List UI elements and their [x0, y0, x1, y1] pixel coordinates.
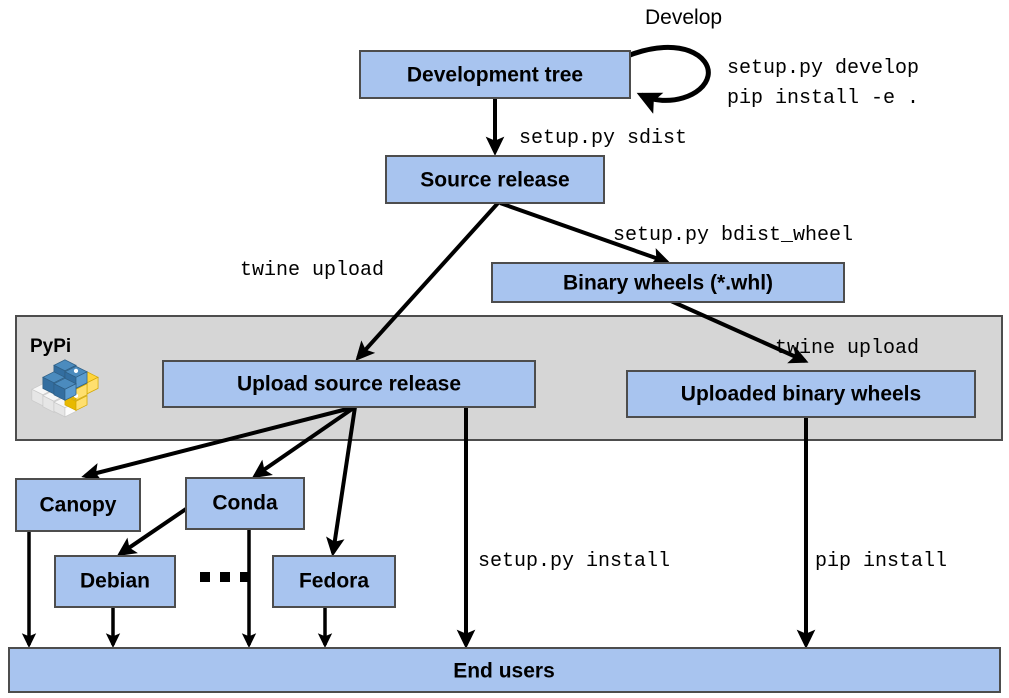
packaging-flow-diagram: PyPi [0, 0, 1009, 698]
label-pip-install-editable: pip install -e . [727, 87, 919, 110]
development-tree-label: Development tree [407, 64, 583, 87]
node-conda[interactable]: Conda [186, 478, 304, 529]
canopy-label: Canopy [39, 494, 116, 517]
label-setup-py-bdist-wheel: setup.py bdist_wheel [613, 224, 853, 247]
node-development-tree[interactable]: Development tree [360, 51, 630, 98]
label-setup-py-sdist: setup.py sdist [519, 127, 687, 150]
label-twine-upload-wheels: twine upload [775, 337, 919, 360]
label-setup-py-develop: setup.py develop [727, 57, 919, 80]
label-twine-upload-source: twine upload [240, 259, 384, 282]
debian-label: Debian [80, 570, 150, 593]
ellipsis-more-distros [200, 572, 250, 582]
label-pip-install: pip install [815, 550, 947, 573]
node-debian[interactable]: Debian [55, 556, 175, 607]
fedora-label: Fedora [299, 570, 369, 593]
end-users-label: End users [453, 660, 555, 683]
binary-wheels-label: Binary wheels (*.whl) [563, 272, 773, 295]
node-binary-wheels[interactable]: Binary wheels (*.whl) [492, 263, 844, 302]
pypi-group-label: PyPi [30, 336, 71, 357]
source-release-label: Source release [420, 169, 569, 192]
node-canopy[interactable]: Canopy [16, 479, 140, 531]
upload-source-release-label: Upload source release [237, 373, 461, 396]
node-source-release[interactable]: Source release [386, 156, 604, 203]
label-develop: Develop [645, 6, 722, 29]
edge-develop-selfloop [630, 47, 708, 100]
node-upload-source-release[interactable]: Upload source release [163, 361, 535, 407]
conda-label: Conda [212, 492, 278, 515]
node-end-users[interactable]: End users [9, 648, 1000, 692]
label-setup-py-install: setup.py install [478, 550, 670, 573]
uploaded-binary-wheels-label: Uploaded binary wheels [681, 383, 921, 406]
node-uploaded-binary-wheels[interactable]: Uploaded binary wheels [627, 371, 975, 417]
node-fedora[interactable]: Fedora [273, 556, 395, 607]
